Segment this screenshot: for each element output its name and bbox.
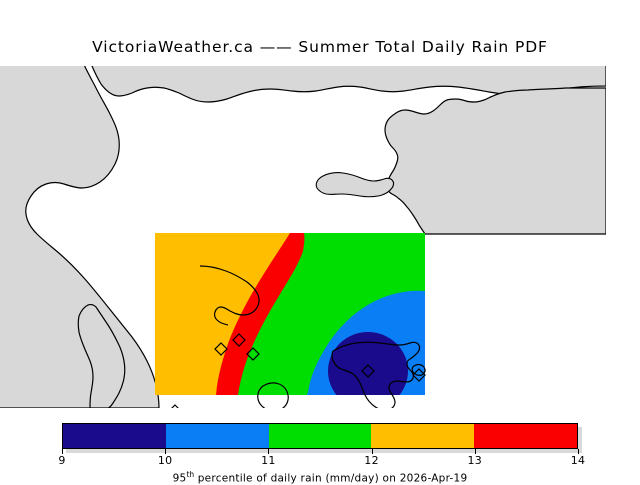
colorbar-tick-label: 14 bbox=[571, 454, 586, 467]
colorbar-track[interactable] bbox=[62, 423, 578, 449]
page-title: VictoriaWeather.ca —— Summer Total Daily… bbox=[0, 38, 640, 56]
colorbar-segment-5[interactable] bbox=[474, 424, 577, 448]
colorbar-tick-label: 10 bbox=[158, 454, 173, 467]
map-canvas[interactable] bbox=[0, 66, 606, 408]
map-panel[interactable] bbox=[0, 66, 606, 408]
colorbar-tick-label: 12 bbox=[364, 454, 379, 467]
colorbar-segment-1[interactable] bbox=[63, 424, 166, 448]
colorbar-segment-2[interactable] bbox=[166, 424, 269, 448]
colorbar-tick-labels: 91011121314 bbox=[0, 454, 640, 468]
contour-field bbox=[155, 233, 425, 408]
colorbar-caption: 95th percentile of daily rain (mm/day) o… bbox=[0, 470, 640, 485]
weather-map-figure: VictoriaWeather.ca —— Summer Total Daily… bbox=[0, 0, 640, 480]
colorbar-segment-4[interactable] bbox=[371, 424, 474, 448]
colorbar-tick-label: 13 bbox=[467, 454, 482, 467]
colorbar-tick-label: 9 bbox=[58, 454, 65, 467]
caption-superscript: th bbox=[186, 470, 194, 479]
colorbar-segment-3[interactable] bbox=[269, 424, 372, 448]
colorbar[interactable]: 91011121314 95th percentile of daily rai… bbox=[0, 418, 640, 480]
colorbar-tick-label: 11 bbox=[261, 454, 276, 467]
